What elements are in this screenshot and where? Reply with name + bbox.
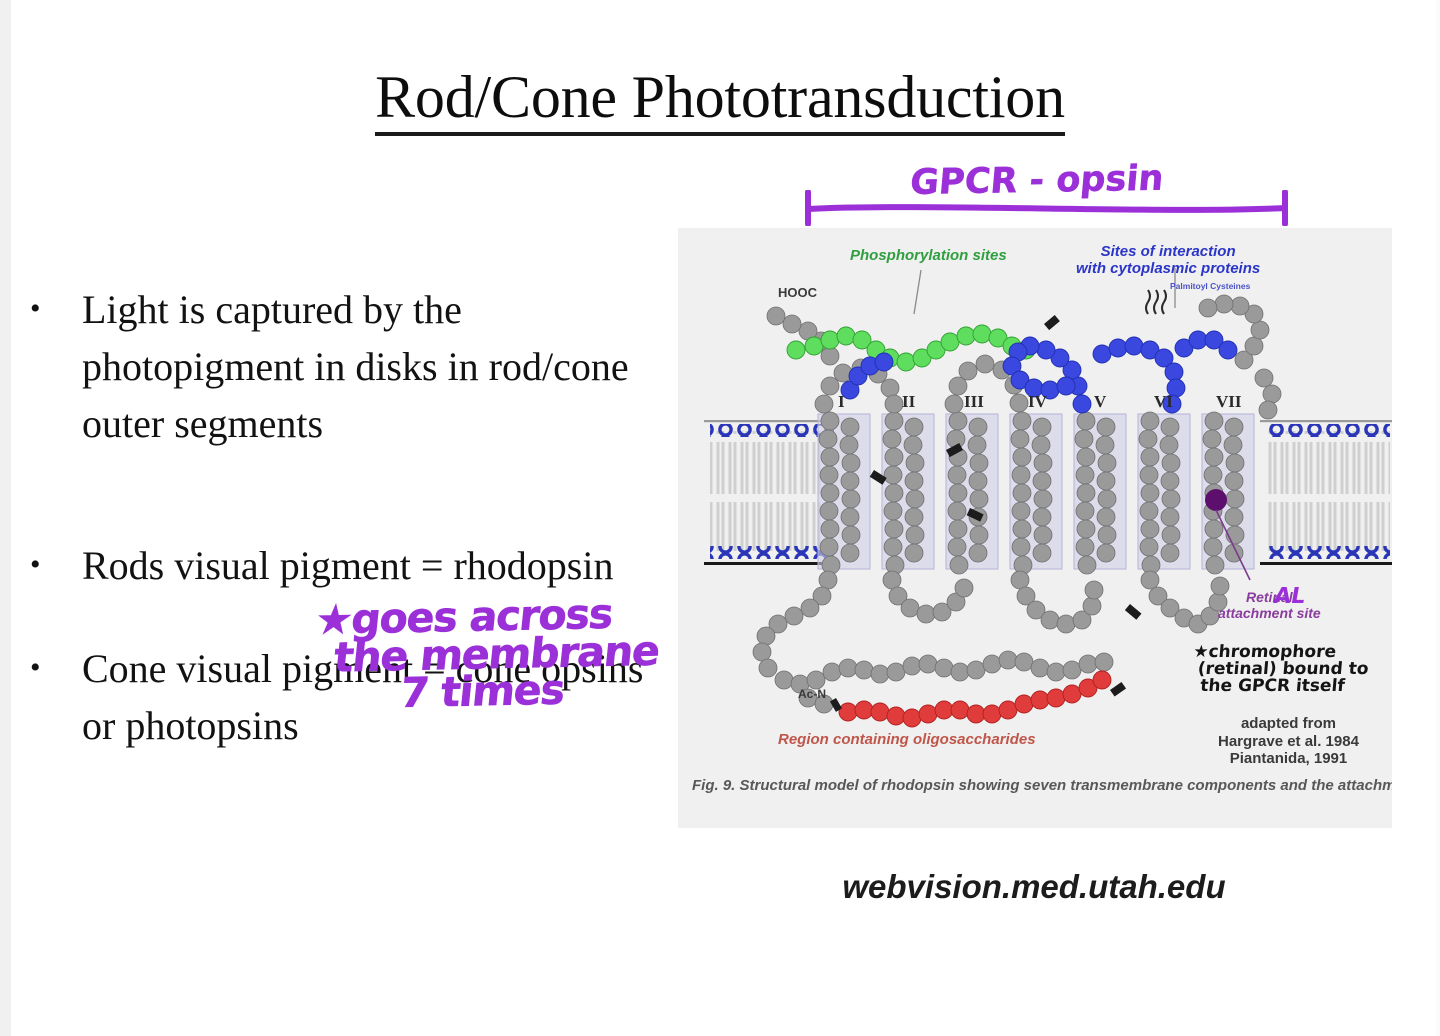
- list-item: • Light is captured by the photopigment …: [22, 282, 662, 452]
- bullet-marker: •: [22, 538, 82, 591]
- title-container: Rod/Cone Phototransduction: [0, 66, 1440, 136]
- figure-caption: Fig. 9. Structural model of rhodopsin sh…: [692, 778, 1382, 795]
- bullet-marker: •: [22, 282, 82, 335]
- label-adapted-from: adapted from Hargrave et al. 1984 Pianta…: [1218, 715, 1359, 768]
- label-hooc: HOOC: [778, 286, 817, 301]
- label-phosphorylation-sites: Phosphorylation sites: [850, 248, 1007, 265]
- list-item: • Rods visual pigment = rhodopsin: [22, 538, 662, 595]
- label-sites-of-interaction: Sites of interaction with cytoplasmic pr…: [1076, 244, 1260, 278]
- handwritten-note-across-membrane: ★goes across the membrane 7 times: [306, 592, 689, 715]
- helix-label-VII: VII: [1216, 392, 1242, 412]
- bullet-spacer: [22, 452, 662, 538]
- helix-label-II: II: [902, 392, 915, 412]
- helix-label-IV: IV: [1028, 392, 1047, 412]
- bullet-text: Light is captured by the photopigment in…: [82, 282, 662, 452]
- handwriting-line-3: the GPCR itself: [1190, 678, 1391, 695]
- lipid-bilayer-left: [704, 420, 836, 565]
- palmitoyl-cysteines-icon: [1146, 290, 1166, 314]
- label-region-oligosaccharides: Region containing oligosaccharides: [778, 732, 1036, 749]
- bullet-text: Rods visual pigment = rhodopsin: [82, 538, 662, 595]
- right-edge-strip: [1436, 0, 1440, 1036]
- bracket-icon: [803, 190, 1290, 226]
- helix-label-III: III: [964, 392, 984, 412]
- handwritten-note-chromophore: ★chromophore (retinal) bound to the GPCR…: [1190, 644, 1392, 695]
- page-title: Rod/Cone Phototransduction: [375, 66, 1065, 136]
- figure-panel: I II III IV V VI VII Phosphorylation sit…: [678, 228, 1392, 828]
- slide-canvas: Rod/Cone Phototransduction • Light is ca…: [0, 0, 1440, 1036]
- bullet-marker: •: [22, 641, 82, 694]
- left-edge-strip: [0, 0, 11, 1036]
- label-palmitoyl-cysteines: Palmitoyl Cysteines: [1170, 282, 1250, 292]
- handwritten-retinal-scribble: AL: [1272, 584, 1307, 609]
- source-url: webvision.med.utah.edu: [676, 868, 1392, 906]
- helix-label-VI: VI: [1154, 392, 1173, 412]
- lipid-bilayer-right: [1260, 420, 1392, 565]
- helix-label-V: V: [1094, 392, 1106, 412]
- helix-label-I: I: [838, 392, 845, 412]
- label-ac-n: Ac-N: [798, 688, 826, 701]
